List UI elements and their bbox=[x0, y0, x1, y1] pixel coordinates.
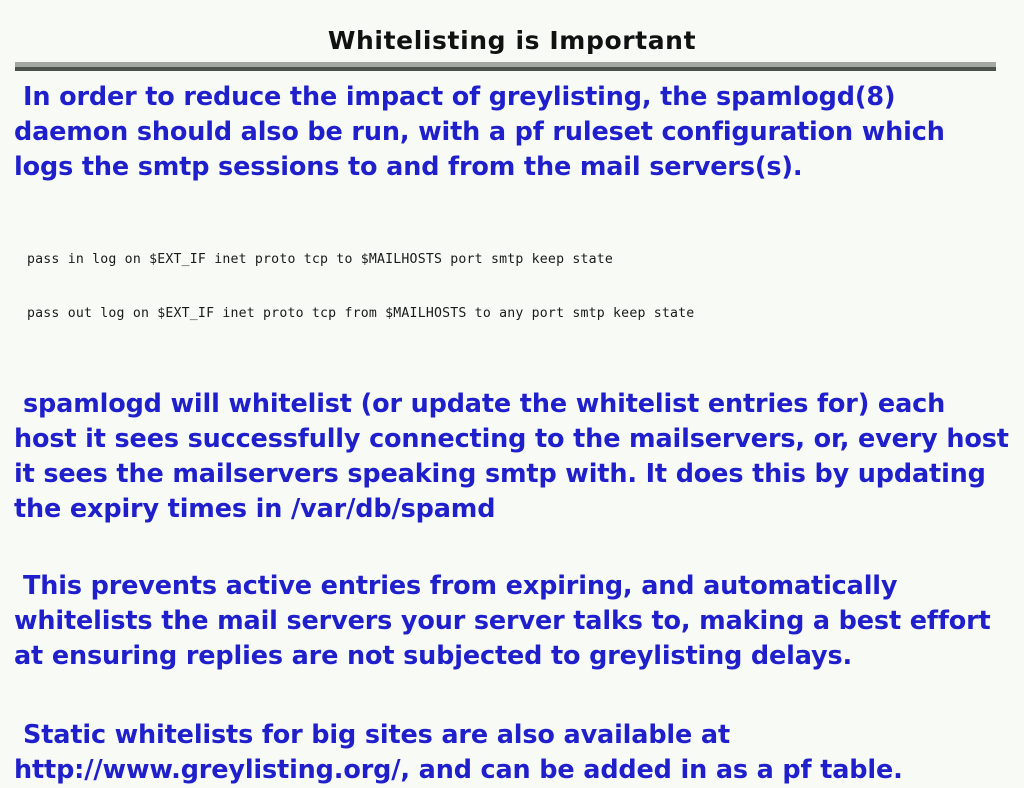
title-divider-bottom-band bbox=[15, 67, 996, 71]
paragraph-static-whitelists: Static whitelists for big sites are also… bbox=[14, 718, 1010, 788]
code-line-pass-out: pass out log on $EXT_IF inet proto tcp f… bbox=[27, 305, 1010, 323]
paragraph-intro: In order to reduce the impact of greylis… bbox=[14, 80, 1010, 185]
slide-body: In order to reduce the impact of greylis… bbox=[14, 78, 1010, 788]
paragraph-spamlogd-whitelist: spamlogd will whitelist (or update the w… bbox=[14, 387, 1010, 527]
code-line-pass-in: pass in log on $EXT_IF inet proto tcp to… bbox=[27, 251, 1010, 269]
page-title: Whitelisting is Important bbox=[0, 26, 1024, 56]
pf-ruleset-code-block: pass in log on $EXT_IF inet proto tcp to… bbox=[27, 215, 1010, 359]
presentation-slide: Whitelisting is Important In order to re… bbox=[0, 0, 1024, 768]
title-divider bbox=[15, 62, 996, 71]
paragraph-prevents-expiring: This prevents active entries from expiri… bbox=[14, 569, 1010, 674]
